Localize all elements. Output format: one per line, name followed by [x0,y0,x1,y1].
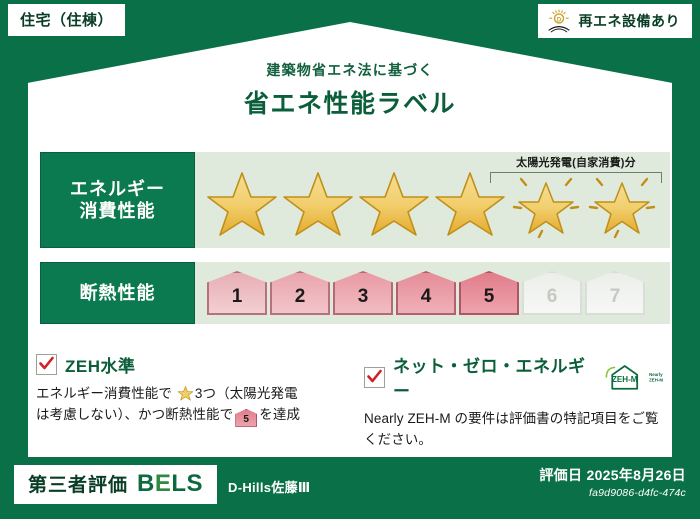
house-type-badge: 住宅（住棟） [8,4,125,36]
criteria-zeh-header: ZEH水準 [36,352,342,377]
evaluation-date-label: 評価日 [539,467,582,483]
insulation-badge: 4 [396,271,456,315]
svg-text:Nearly: Nearly [649,372,663,377]
evaluation-date-value: 2025年8月26日 [586,467,686,483]
criteria-zeh-text-2: 3つ（太陽光発電 [195,386,298,401]
insulation-badge-list: 1 2 3 4 5 6 7 [195,271,645,315]
insulation-badge-value: 1 [232,286,243,308]
energy-star-rating: 太陽光発電(自家消費)分 [195,152,670,248]
evaluation-date: 評価日 2025年8月26日 [539,465,686,485]
insulation-badge-inactive: 6 [522,271,582,315]
star-solar [585,167,659,239]
insulation-performance-label-panel: 断熱性能 [40,262,195,324]
criteria-zeh-text-4: を達成 [259,407,300,422]
energy-performance-label-panel: エネルギー 消費性能 [40,152,195,248]
insulation-badge: 2 [270,271,330,315]
insulation-badge-value: 7 [610,286,621,308]
footer: 第三者評価 BELS D-Hills佐藤Ⅲ 評価日 2025年8月26日 fa9… [0,457,700,519]
star-list [195,167,659,239]
insulation-label: 断熱性能 [80,282,156,305]
star-solar [509,167,583,239]
title-block: 建築物省エネ法に基づく 省エネ性能ラベル [0,60,700,120]
house-type-label: 住宅（住棟） [20,12,113,29]
insulation-badge: 1 [207,271,267,315]
criteria-net-zero-body: Nearly ZEH-M の要件は評価書の特記項目をご覧ください。 [364,409,670,451]
star-filled [205,167,279,239]
star-filled [433,167,507,239]
insulation-grade-scale: 1 2 3 4 5 6 7 [195,262,670,324]
building-name: D-Hills佐藤Ⅲ [228,477,310,496]
third-party-evaluation-label: 第三者評価 [28,470,128,497]
criteria-zeh-body: エネルギー消費性能で 3つ（太陽光発電 は考慮しない）、かつ断熱性能で5を達成 [36,384,342,427]
insulation-badge-value: 5 [484,286,495,308]
insulation-badge-value: 4 [421,286,432,308]
energy-label-line2: 消費性能 [80,200,156,223]
star-filled [281,167,355,239]
checkbox-checked-icon [36,354,57,375]
sun-icon: D [546,8,572,34]
inline-insulation-badge-icon: 5 [235,409,257,427]
evaluation-id: fa9d9086-d4fc-474c [589,487,686,499]
svg-text:ZEH-M: ZEH-M [649,377,663,382]
insulation-badge-value: 3 [358,286,369,308]
svg-text:D: D [556,17,561,23]
checkbox-checked-icon [364,367,385,388]
insulation-badge-inactive: 7 [585,271,645,315]
criteria-section: ZEH水準 エネルギー消費性能で 3つ（太陽光発電 は考慮しない）、かつ断熱性能… [36,352,670,451]
criteria-zeh: ZEH水準 エネルギー消費性能で 3つ（太陽光発電 は考慮しない）、かつ断熱性能… [36,352,342,451]
page-title: 省エネ性能ラベル [0,84,700,120]
insulation-badge: 5 [459,271,519,315]
energy-performance-row: エネルギー 消費性能 [40,152,670,248]
criteria-net-zero-title: ネット・ゼロ・エネルギー [393,352,590,402]
bels-certification-box: 第三者評価 BELS [14,465,217,504]
title-subtitle: 建築物省エネ法に基づく [0,60,700,80]
insulation-badge: 3 [333,271,393,315]
bels-logo: BELS [137,470,203,498]
renewable-equipment-badge: D 再エネ設備あり [538,4,693,38]
insulation-badge-value: 6 [547,286,558,308]
star-filled [357,167,431,239]
energy-performance-label: 住宅（住棟） D 再エネ設備あり 建 [0,0,700,519]
energy-label-line1: エネルギー [70,178,165,201]
criteria-zeh-text-1: エネルギー消費性能で [36,386,172,401]
inline-star-icon [177,385,194,401]
zeh-m-logo: ZEH-M Nearly ZEH-M [602,362,670,392]
insulation-performance-row: 断熱性能 1 2 3 4 5 6 7 [40,262,670,324]
criteria-zeh-text-3: は考慮しない）、かつ断熱性能で [36,407,233,422]
criteria-net-zero: ネット・ゼロ・エネルギー ZEH-M Nearly ZEH-M Nearly Z… [364,352,670,451]
svg-text:ZEH-M: ZEH-M [612,375,638,384]
criteria-zeh-title: ZEH水準 [65,352,136,377]
criteria-net-zero-header: ネット・ゼロ・エネルギー ZEH-M Nearly ZEH-M [364,352,670,402]
renewable-equipment-label: 再エネ設備あり [579,11,681,31]
insulation-badge-value: 2 [295,286,306,308]
